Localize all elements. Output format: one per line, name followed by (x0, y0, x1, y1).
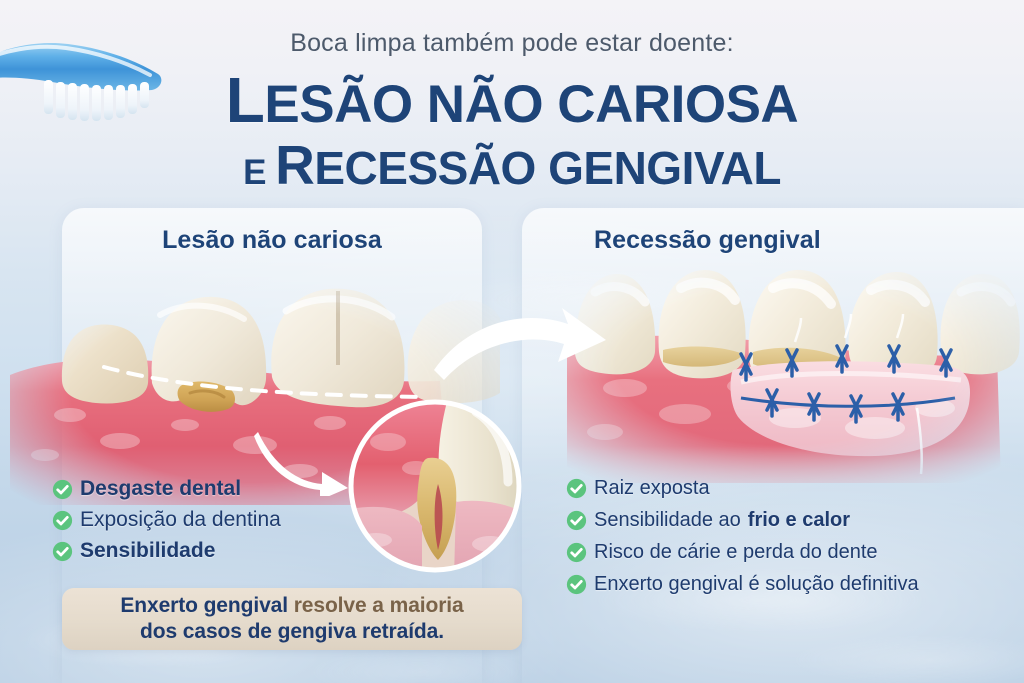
title-dropcap-l: L (226, 64, 265, 136)
kicker-text: Boca limpa também pode estar doente: (0, 30, 1024, 58)
list-item: Exposição da dentina (52, 509, 382, 531)
title-line1-rest: ESÃO NÃO CARIOSA (264, 75, 798, 134)
list-item-label: Desgaste dental (80, 478, 241, 500)
check-circle-icon (566, 542, 587, 563)
check-circle-icon (52, 510, 73, 531)
title-line2-rest: ECESSÃO GENGIVAL (314, 142, 781, 194)
page-title-line1: LESÃO NÃO CARIOSA (0, 69, 1024, 131)
check-circle-icon (52, 479, 73, 500)
gum-graft-sutures-illustration (545, 258, 1023, 483)
check-circle-icon (566, 478, 587, 499)
bullet-list-left: Desgaste dental Exposição da dentina Sen… (52, 478, 382, 571)
list-item-label: Risco de cárie e perda do dente (594, 542, 878, 563)
infographic-poster: Boca limpa também pode estar doente: LES… (0, 0, 1024, 683)
list-item: Desgaste dental (52, 478, 382, 500)
list-item-label: Exposição da dentina (80, 509, 281, 531)
title-conjunction-e: E (243, 153, 275, 192)
banner-text-dark: Enxerto gengival (120, 594, 293, 617)
banner-line-1: Enxerto gengival resolve a maioria (120, 593, 463, 619)
bullet-list-right: Raiz exposta Sensibilidade ao frio e cal… (566, 478, 1016, 606)
poster-header: Boca limpa também pode estar doente: LES… (0, 30, 1024, 192)
list-item-label: Enxerto gengival é solução definitiva (594, 574, 919, 595)
check-circle-icon (52, 541, 73, 562)
list-item: Raiz exposta (566, 478, 1016, 499)
title-dropcap-r: R (275, 134, 314, 196)
list-item-label-emphasis: frio e calor (748, 510, 850, 531)
list-item: Sensibilidade ao frio e calor (566, 510, 1016, 531)
banner-text-tan: resolve a maioria (294, 594, 464, 617)
panel-left-title: Lesão não cariosa (62, 226, 482, 255)
list-item-label: Sensibilidade ao (594, 510, 741, 531)
list-item: Risco de cárie e perda do dente (566, 542, 1016, 563)
highlight-banner: Enxerto gengival resolve a maioria dos c… (62, 588, 522, 650)
panel-right-title: Recessão gengival (522, 226, 1024, 255)
check-circle-icon (566, 510, 587, 531)
banner-line-2: dos casos de gengiva retraída. (140, 619, 444, 645)
page-title-line2: E RECESSÃO GENGIVAL (0, 139, 1024, 192)
list-item-label: Raiz exposta (594, 478, 710, 499)
list-item: Enxerto gengival é solução definitiva (566, 574, 1016, 595)
curved-arrow-right-icon (430, 300, 610, 392)
list-item: Sensibilidade (52, 540, 382, 562)
list-item-label: Sensibilidade (80, 540, 215, 562)
check-circle-icon (566, 574, 587, 595)
